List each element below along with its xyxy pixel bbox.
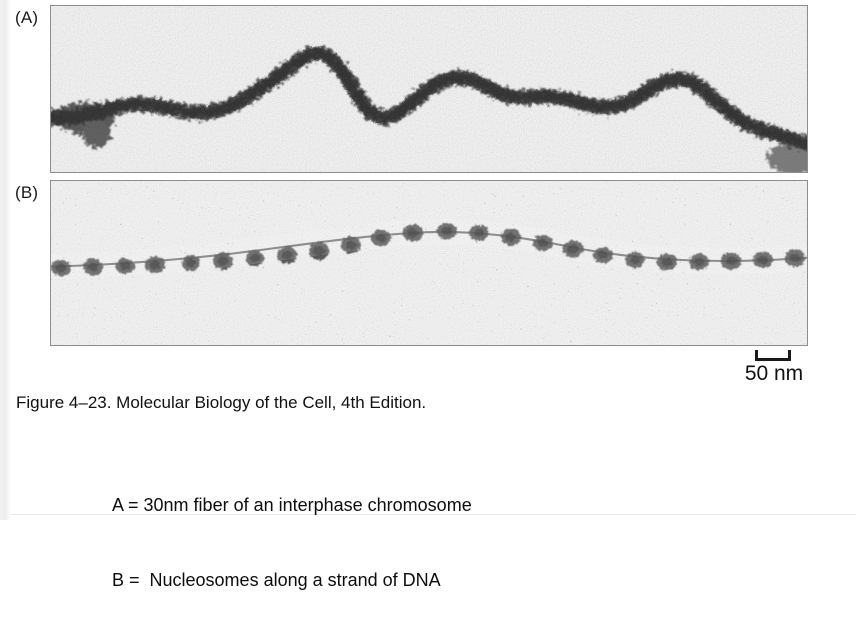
- electron-micrograph-nucleosome-beads-icon: [51, 181, 807, 345]
- scale-bar-tick-right: [788, 350, 791, 361]
- panel-label-b: (B): [15, 183, 38, 203]
- figure-4-23: (A): [0, 0, 856, 520]
- scale-bar-bracket-icon: [755, 350, 791, 361]
- legend-line-b: B = Nucleosomes along a strand of DNA: [112, 568, 472, 593]
- panel-label-a: (A): [15, 8, 38, 28]
- scale-bar-label: 50 nm: [686, 362, 856, 386]
- electron-micrograph-30nm-fiber-icon: [51, 6, 807, 172]
- figure-legend: A = 30nm fiber of an interphase chromoso…: [112, 443, 472, 643]
- scale-bar-line: [755, 358, 791, 361]
- figure-caption: Figure 4–23. Molecular Biology of the Ce…: [16, 392, 426, 414]
- micrograph-panel-b: [50, 180, 808, 346]
- micrograph-panel-a: [50, 5, 808, 173]
- legend-line-a: A = 30nm fiber of an interphase chromoso…: [112, 493, 472, 518]
